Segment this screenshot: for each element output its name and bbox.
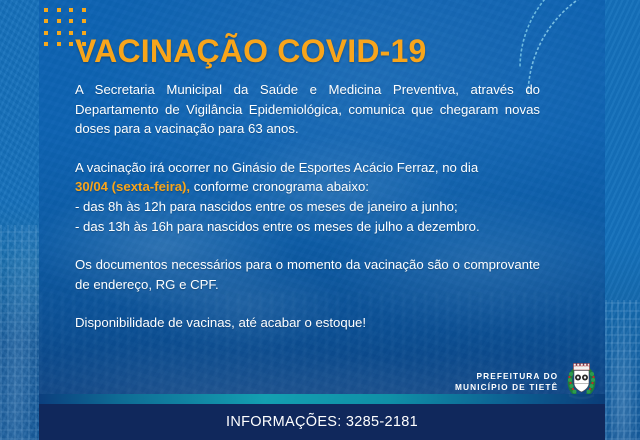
paragraph-schedule-morning: - das 8h às 12h para nascidos entre os m…: [75, 197, 540, 217]
decorative-dot: [57, 8, 61, 12]
left-cityscape-texture: [0, 225, 39, 440]
decorative-dot: [44, 19, 48, 23]
left-texture-band: [0, 0, 39, 440]
teal-divider: [39, 394, 605, 404]
decorative-dot: [82, 8, 86, 12]
spacer: [75, 294, 540, 313]
paragraph-intro: A Secretaria Municipal da Saúde e Medici…: [75, 80, 540, 139]
date-rest: conforme cronograma abaixo:: [190, 179, 369, 194]
page-title: VACINAÇÃO COVID-19: [75, 33, 427, 70]
decorative-dot: [44, 31, 48, 35]
decorative-dot: [69, 31, 73, 35]
decorative-dot: [69, 8, 73, 12]
right-texture-band: [605, 0, 640, 440]
decorative-dot: [57, 42, 61, 46]
spacer: [75, 139, 540, 158]
decorative-dot: [69, 42, 73, 46]
decorative-dot: [44, 42, 48, 46]
brand-line-1: PREFEITURA DO: [455, 371, 558, 382]
footer-info-text: INFORMAÇÕES: 3285-2181: [226, 414, 418, 430]
paragraph-schedule-intro: A vacinação irá ocorrer no Ginásio de Es…: [75, 158, 540, 178]
decorative-dot: [44, 8, 48, 12]
footer-bar: INFORMAÇÕES: 3285-2181: [39, 404, 605, 440]
right-cityscape-texture: [605, 300, 640, 440]
vaccination-poster: VACINAÇÃO COVID-19 A Secretaria Municipa…: [0, 0, 640, 440]
paragraph-documents: Os documentos necessários para o momento…: [75, 255, 540, 294]
brand-text: PREFEITURA DO MUNICÍPIO DE TIETÊ: [455, 371, 558, 393]
paragraph-availability: Disponibilidade de vacinas, até acabar o…: [75, 313, 540, 333]
paragraph-schedule-afternoon: - das 13h às 16h para nascidos entre os …: [75, 217, 540, 237]
paragraph-schedule-date: 30/04 (sexta-feira), conforme cronograma…: [75, 177, 540, 197]
brand-line-2: MUNICÍPIO DE TIETÊ: [455, 382, 558, 393]
spacer: [75, 236, 540, 255]
decorative-dot: [57, 19, 61, 23]
decorative-dot: [57, 31, 61, 35]
date-highlight: 30/04 (sexta-feira),: [75, 179, 190, 194]
decorative-dot: [82, 19, 86, 23]
poster-body: A Secretaria Municipal da Saúde e Medici…: [75, 80, 540, 333]
decorative-dot: [69, 19, 73, 23]
